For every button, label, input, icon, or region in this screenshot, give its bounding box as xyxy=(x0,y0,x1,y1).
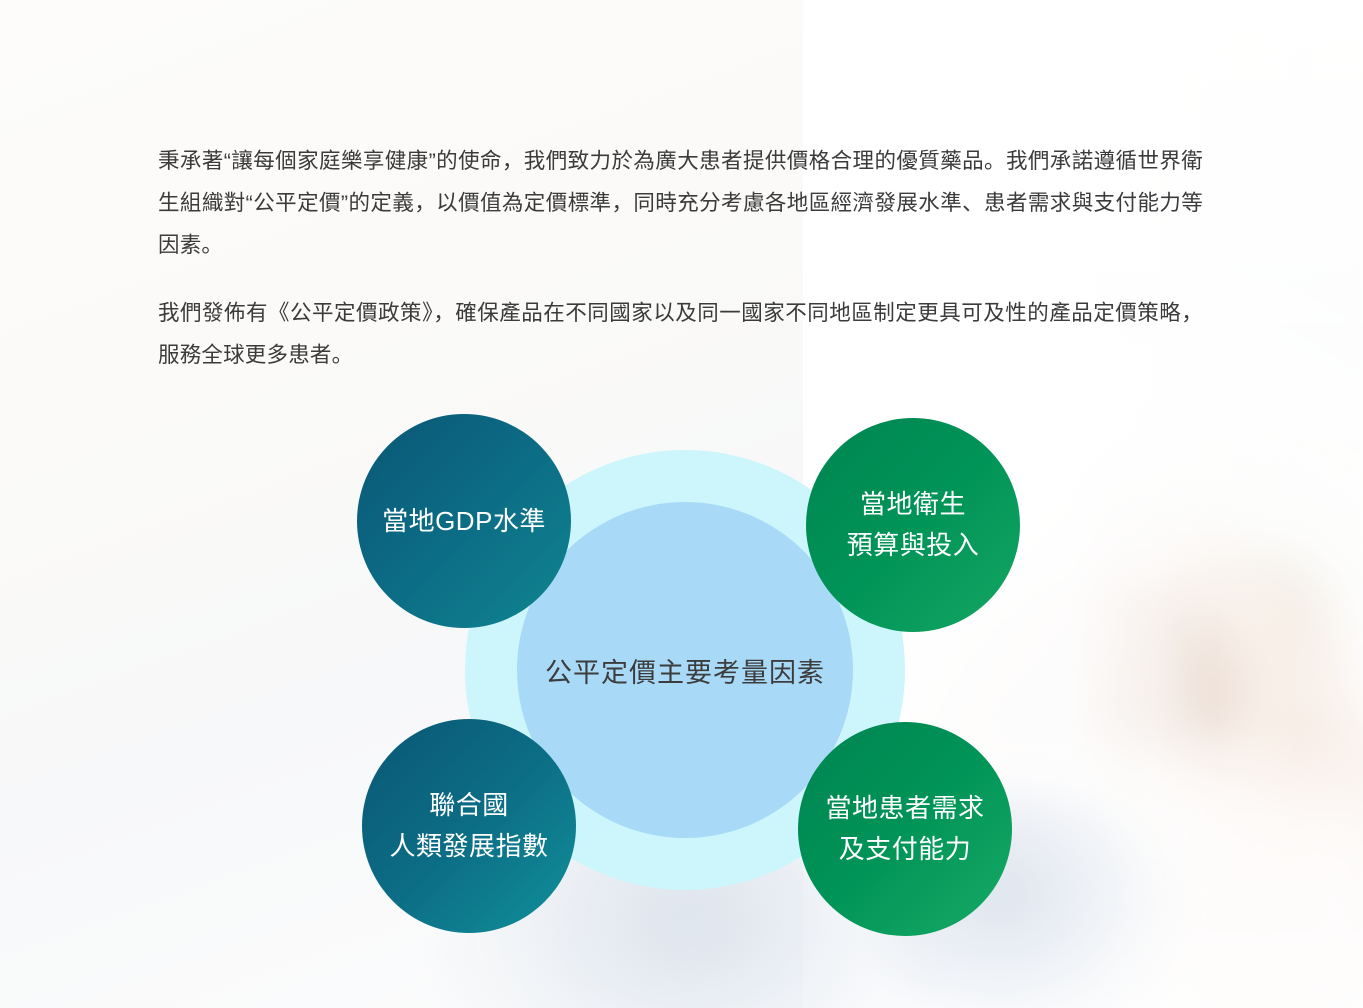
diagram-node-local-health-budget[interactable]: 當地衛生 預算與投入 xyxy=(806,418,1020,632)
node-line-1: 當地衛生 xyxy=(847,484,980,525)
node-line-2: 預算與投入 xyxy=(847,525,980,566)
node-line-1: 當地GDP水準 xyxy=(382,501,546,542)
diagram-node-local-gdp-level[interactable]: 當地GDP水準 xyxy=(357,414,571,628)
page-root: 秉承著“讓每個家庭樂享健康”的使命，我們致力於為廣大患者提供價格合理的優質藥品。… xyxy=(0,0,1363,1008)
node-line-1: 當地患者需求 xyxy=(825,788,984,829)
node-line-2: 人類發展指數 xyxy=(389,826,548,867)
node-label-local-patient-demand: 當地患者需求 及支付能力 xyxy=(825,788,984,870)
node-line-1: 聯合國 xyxy=(389,785,548,826)
diagram-node-local-patient-demand[interactable]: 當地患者需求 及支付能力 xyxy=(798,722,1012,936)
node-label-local-health-budget: 當地衛生 預算與投入 xyxy=(847,484,980,566)
node-label-local-gdp-level: 當地GDP水準 xyxy=(382,501,546,542)
diagram-node-un-human-development-index[interactable]: 聯合國 人類發展指數 xyxy=(362,719,576,933)
node-line-2: 及支付能力 xyxy=(825,829,984,870)
fair-pricing-diagram: 公平定價主要考量因素 當地GDP水準 當地衛生 預算與投入 聯合國 人類發展指數… xyxy=(0,0,1363,1008)
node-label-un-human-development-index: 聯合國 人類發展指數 xyxy=(389,785,548,867)
